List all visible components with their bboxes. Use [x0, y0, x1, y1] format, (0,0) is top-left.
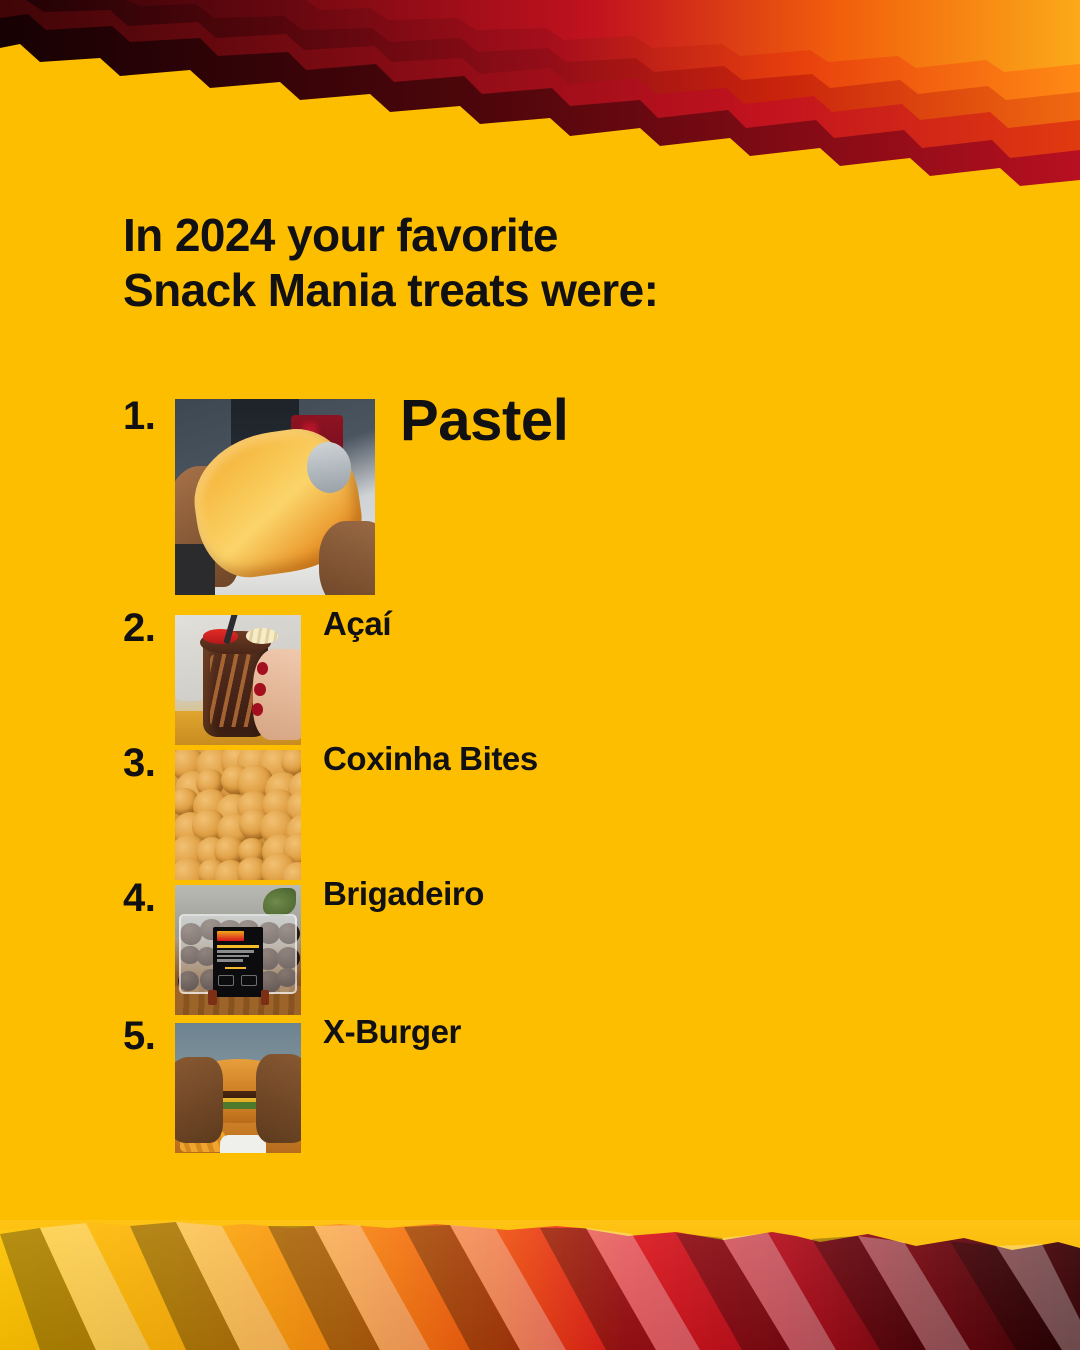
- rank-number-3: 3.: [123, 743, 155, 783]
- treat-label-2: Açaí: [323, 607, 391, 640]
- treat-label-5: X-Burger: [323, 1015, 461, 1048]
- rank-number-4: 4.: [123, 878, 155, 918]
- acai-photo: [175, 615, 301, 745]
- treat-label-1: Pastel: [400, 392, 569, 450]
- favorite-treats-list: 1. Pastel 2.: [0, 0, 1080, 1350]
- rank-number-1: 1.: [123, 396, 155, 436]
- x-burger-photo: [175, 1023, 301, 1153]
- pastel-photo: [175, 399, 375, 595]
- coxinha-bites-photo: [175, 750, 301, 880]
- rank-number-2: 2.: [123, 608, 155, 648]
- treat-label-4: Brigadeiro: [323, 877, 484, 910]
- treat-label-3: Coxinha Bites: [323, 742, 538, 775]
- rank-number-5: 5.: [123, 1016, 155, 1056]
- poster-canvas: In 2024 your favorite Snack Mania treats…: [0, 0, 1080, 1350]
- brigadeiro-photo: [175, 885, 301, 1015]
